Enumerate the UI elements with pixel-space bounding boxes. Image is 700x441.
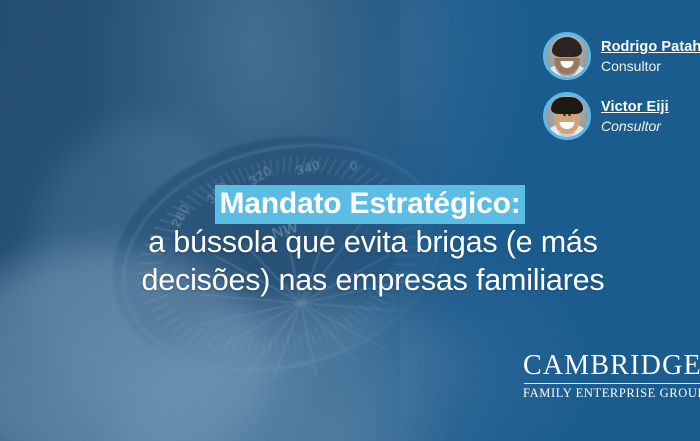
speaker-item[interactable]: Rodrigo Patah Consultor (543, 28, 700, 84)
headline-highlight-line: Mandato Estratégico: (40, 186, 700, 223)
headline: Mandato Estratégico: a bússola que evita… (0, 186, 700, 299)
speaker-name[interactable]: Rodrigo Patah (601, 39, 700, 56)
headline-line-2: a bússola que evita brigas (e más (46, 223, 700, 261)
logo-wordmark: CAMBRIDGE (523, 352, 700, 380)
speaker-item[interactable]: Victor Eiji Consultor (543, 88, 700, 144)
avatar (543, 32, 591, 80)
headline-line-3: decisões) nas empresas familiares (46, 261, 700, 299)
speaker-name[interactable]: Victor Eiji (601, 99, 669, 116)
speaker-list: Rodrigo Patah Consultor Victor Eiji Cons… (543, 28, 700, 148)
speaker-role: Consultor (601, 58, 700, 74)
logo-divider (524, 383, 700, 384)
avatar (543, 92, 591, 140)
webinar-title-card: 280 300 320 340 0 NW R (0, 0, 700, 441)
logo-tagline: FAMILY ENTERPRISE GROUP® (523, 387, 700, 400)
cambridge-logo: CAMBRIDGE FAMILY ENTERPRISE GROUP® (523, 352, 700, 400)
headline-highlight-text: Mandato Estratégico: (215, 185, 524, 224)
speaker-role: Consultor (601, 118, 669, 134)
